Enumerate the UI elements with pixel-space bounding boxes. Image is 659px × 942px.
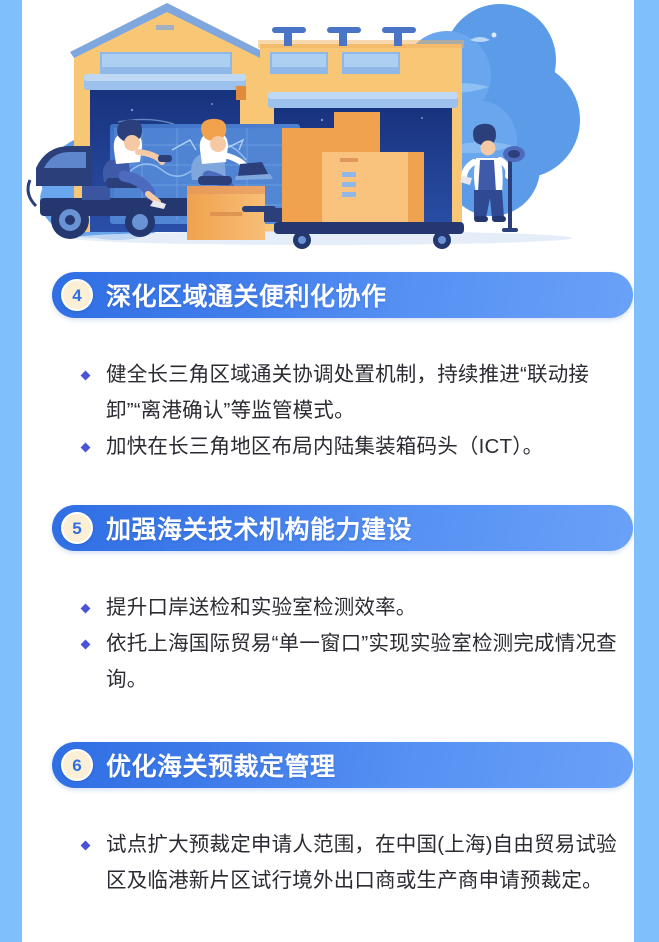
infographic-page: 4 深化区域通关便利化协作 健全长三角区域通关协调处置机制，持续推进“联动接卸”… [0,0,659,942]
list-item: 加快在长三角地区布局内陆集装箱码头（ICT）。 [80,429,634,465]
section-6-bullet-list: 试点扩大预裁定申请人范围，在中国(上海)自由贸易试验区及临港新片区试行境外出口商… [80,827,634,899]
list-item: 依托上海国际贸易“单一窗口”实现实验室检测完成情况查询。 [80,626,634,698]
warehouse-logistics-illustration [22,0,634,250]
diamond-bullet-icon [81,604,91,614]
list-item-text: 健全长三角区域通关协调处置机制，持续推进“联动接卸”“离港确认”等监管模式。 [106,357,634,429]
section-5-number-badge: 5 [61,512,93,544]
diamond-bullet-icon [81,841,91,851]
left-accent-band [0,0,22,942]
section-5-title: 加强海关技术机构能力建设 [106,510,412,546]
list-item: 健全长三角区域通关协调处置机制，持续推进“联动接卸”“离港确认”等监管模式。 [80,357,634,429]
list-item: 提升口岸送检和实验室检测效率。 [80,590,634,626]
section-4-number-badge: 4 [61,279,93,311]
section-6: 6 优化海关预裁定管理 试点扩大预裁定申请人范围，在中国(上海)自由贸易试验区及… [52,742,634,788]
section-6-header[interactable]: 6 优化海关预裁定管理 [52,742,633,788]
page-content: 4 深化区域通关便利化协作 健全长三角区域通关协调处置机制，持续推进“联动接卸”… [22,0,634,942]
section-4-header[interactable]: 4 深化区域通关便利化协作 [52,272,633,318]
diamond-bullet-icon [81,443,91,453]
section-5: 5 加强海关技术机构能力建设 提升口岸送检和实验室检测效率。 依托上海国际贸易“… [52,505,634,551]
diamond-bullet-icon [81,371,91,381]
list-item-text: 依托上海国际贸易“单一窗口”实现实验室检测完成情况查询。 [106,626,634,698]
section-6-number-badge: 6 [61,749,93,781]
cardboard-boxes-left [187,186,265,240]
diamond-bullet-icon [81,640,91,650]
section-5-bullet-list: 提升口岸送检和实验室检测效率。 依托上海国际贸易“单一窗口”实现实验室检测完成情… [80,590,634,698]
section-4-title: 深化区域通关便利化协作 [106,277,387,313]
section-5-header[interactable]: 5 加强海关技术机构能力建设 [52,505,633,551]
section-6-title: 优化海关预裁定管理 [106,747,336,783]
list-item: 试点扩大预裁定申请人范围，在中国(上海)自由贸易试验区及临港新片区试行境外出口商… [80,827,634,899]
list-item-text: 提升口岸送检和实验室检测效率。 [106,590,634,626]
section-4-bullet-list: 健全长三角区域通关协调处置机制，持续推进“联动接卸”“离港确认”等监管模式。 加… [80,357,634,465]
right-accent-band [634,0,659,942]
section-4: 4 深化区域通关便利化协作 健全长三角区域通关协调处置机制，持续推进“联动接卸”… [52,272,634,318]
list-item-text: 加快在长三角地区布局内陆集装箱码头（ICT）。 [106,429,634,465]
list-item-text: 试点扩大预裁定申请人范围，在中国(上海)自由贸易试验区及临港新片区试行境外出口商… [106,827,634,899]
